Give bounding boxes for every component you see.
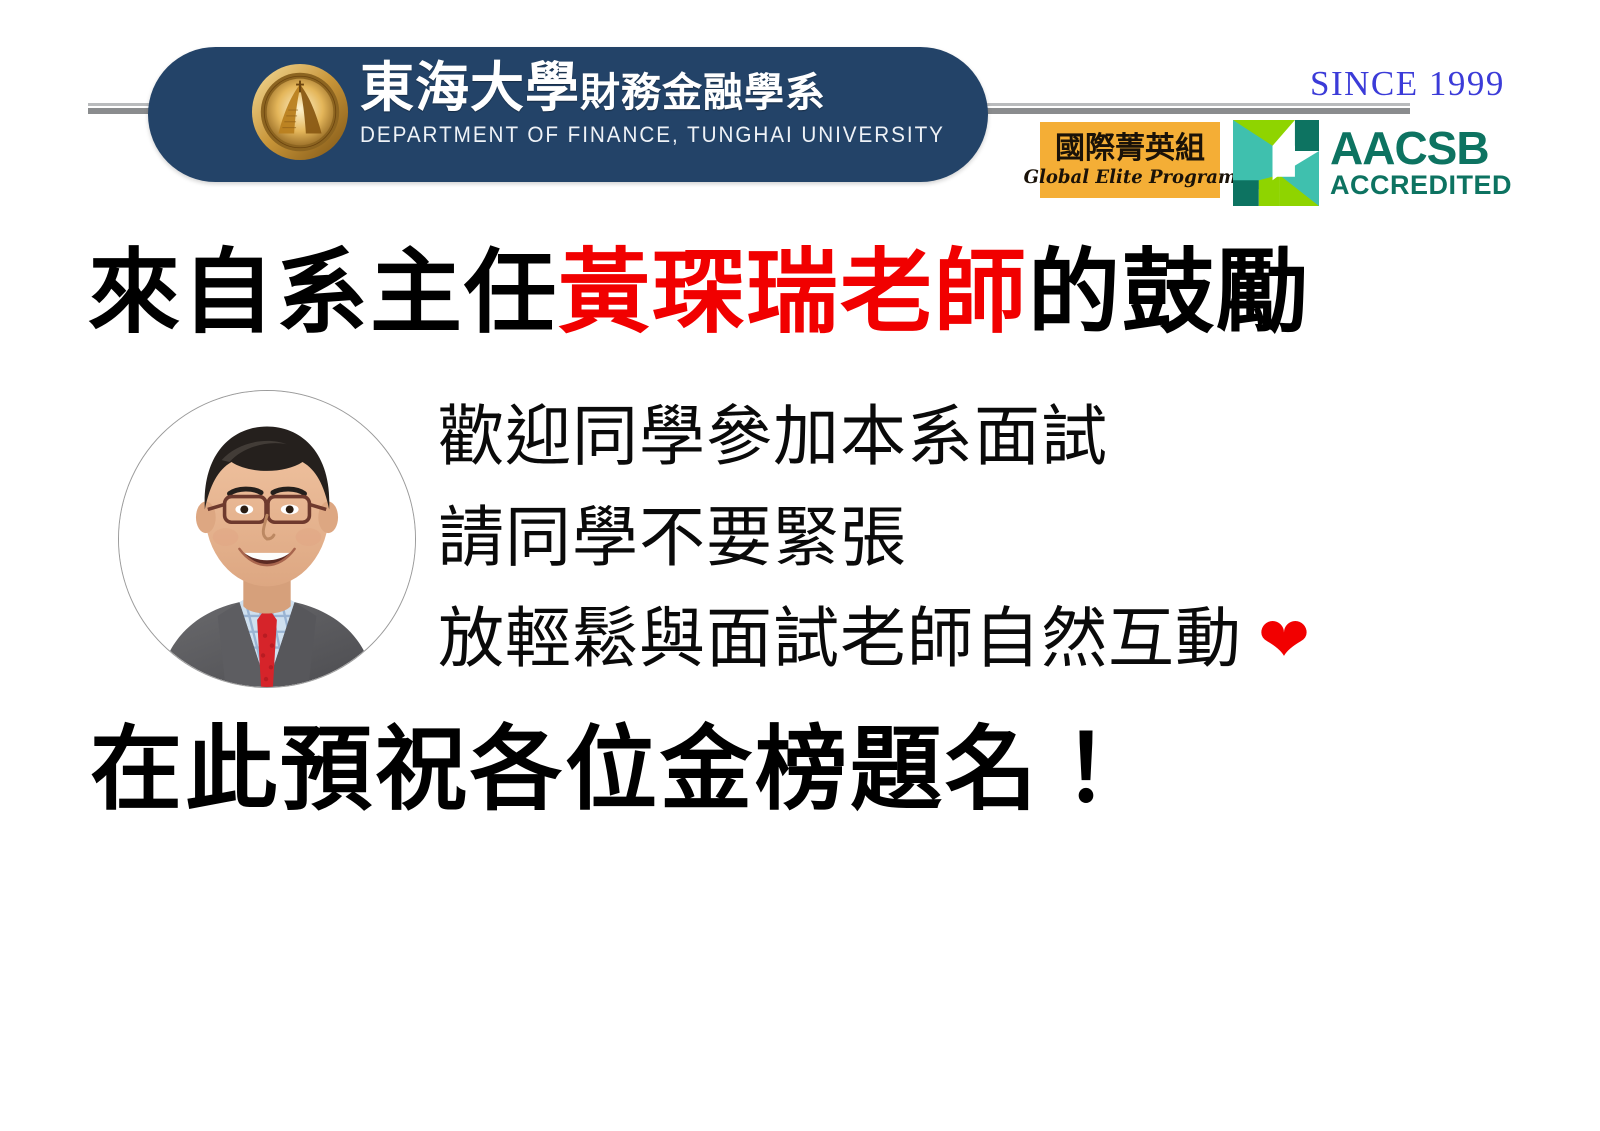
logo-title-en: DEPARTMENT OF FINANCE, TUNGHAI UNIVERSIT…	[360, 122, 875, 148]
slide-canvas: 東海大學財務金融學系 DEPARTMENT OF FINANCE, TUNGHA…	[0, 0, 1600, 1131]
aacsb-pinwheel-icon	[1233, 120, 1319, 206]
global-elite-en-label: Global Elite Program	[1023, 168, 1236, 187]
global-elite-program-badge: 國際菁英組 Global Elite Program	[1040, 122, 1220, 198]
message-line-2: 請同學不要緊張	[438, 505, 1438, 571]
message-line-3: 放輕鬆與面試老師自然互動	[438, 600, 1242, 677]
professor-headshot-avatar	[118, 390, 416, 688]
message-line-3-wrapper: 放輕鬆與面試老師自然互動❤	[438, 606, 1438, 672]
heart-icon: ❤	[1258, 603, 1311, 676]
logo-title-cn-main: 東海大學	[360, 55, 580, 119]
aacsb-name-label: AACSB	[1330, 127, 1512, 171]
page-title: 來自系主任黃琛瑞老師的鼓勵	[88, 243, 1310, 342]
aacsb-wordmark: AACSB ACCREDITED	[1330, 127, 1512, 199]
aacsb-status-label: ACCREDITED	[1330, 171, 1512, 199]
department-logo-text: 東海大學財務金融學系 DEPARTMENT OF FINANCE, TUNGHA…	[360, 60, 920, 148]
message-line-1: 歡迎同學參加本系面試	[438, 404, 1438, 470]
closing-message: 在此預祝各位金榜題名！	[90, 720, 1135, 819]
headline-highlight-name: 黃琛瑞老師	[558, 238, 1028, 346]
since-label: SINCE 1999	[1310, 64, 1505, 104]
headline-prefix: 來自系主任	[88, 238, 558, 346]
logo-title-cn-sub: 財務金融學系	[580, 69, 826, 116]
message-body: 歡迎同學參加本系面試 請同學不要緊張 放輕鬆與面試老師自然互動❤	[438, 404, 1438, 672]
global-elite-cn-label: 國際菁英組	[1055, 134, 1205, 164]
headline-suffix: 的鼓勵	[1028, 238, 1310, 346]
tunghai-luce-chapel-seal-icon	[251, 63, 349, 161]
